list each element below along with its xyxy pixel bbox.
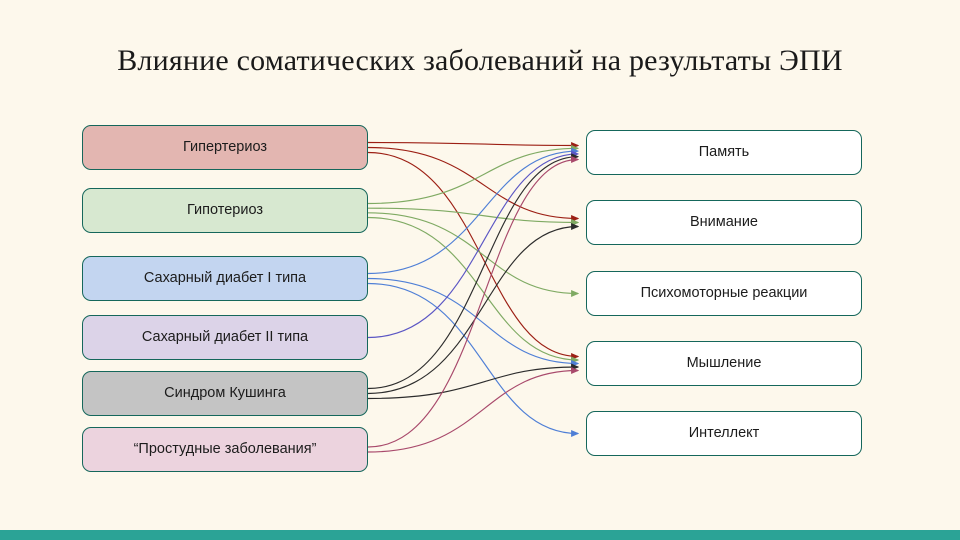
source-node-label: Гипертериоз <box>183 139 267 156</box>
source-node-label: Гипотериоз <box>187 202 263 219</box>
connector-cold-to-memory <box>368 160 578 448</box>
target-node-label: Интеллект <box>689 425 760 442</box>
connector-dm1-to-thinking <box>368 279 578 364</box>
source-node-dm2[interactable]: Сахарный диабет II типа <box>82 315 368 360</box>
target-node-label: Мышление <box>687 355 762 372</box>
connector-cushing-to-thinking <box>368 367 578 399</box>
source-node-cold[interactable]: “Простудные заболевания” <box>82 427 368 472</box>
source-node-label: Синдром Кушинга <box>164 385 286 402</box>
connector-hypo-to-attention <box>368 208 578 222</box>
connector-hyper-to-thinking <box>368 153 578 357</box>
connector-dm2-to-memory <box>368 154 578 338</box>
connector-cold-to-thinking <box>368 371 578 453</box>
target-node-intellect[interactable]: Интеллект <box>586 411 862 456</box>
page-title: Влияние соматических заболеваний на резу… <box>0 44 960 78</box>
source-node-cushing[interactable]: Синдром Кушинга <box>82 371 368 416</box>
target-node-attention[interactable]: Внимание <box>586 200 862 245</box>
source-node-hyper[interactable]: Гипертериоз <box>82 125 368 170</box>
source-node-label: Сахарный диабет I типа <box>144 270 306 287</box>
accent-bar <box>0 530 960 540</box>
connector-hyper-to-attention <box>368 148 578 219</box>
source-node-dm1[interactable]: Сахарный диабет I типа <box>82 256 368 301</box>
source-node-hypo[interactable]: Гипотериоз <box>82 188 368 233</box>
connector-hypo-to-memory <box>368 148 578 203</box>
connector-hypo-to-psycho <box>368 213 578 294</box>
target-node-thinking[interactable]: Мышление <box>586 341 862 386</box>
target-node-label: Память <box>699 144 750 161</box>
source-node-label: “Простудные заболевания” <box>134 441 317 458</box>
connector-dm1-to-memory <box>368 151 578 273</box>
target-node-memory[interactable]: Память <box>586 130 862 175</box>
connector-hypo-to-thinking <box>368 218 578 361</box>
target-node-label: Психомоторные реакции <box>641 285 808 302</box>
target-node-psycho[interactable]: Психомоторные реакции <box>586 271 862 316</box>
target-node-label: Внимание <box>690 214 758 231</box>
source-node-label: Сахарный диабет II типа <box>142 329 308 346</box>
connector-cushing-to-memory <box>368 157 578 389</box>
connector-hyper-to-memory <box>368 143 578 146</box>
connector-dm1-to-intellect <box>368 284 578 434</box>
connector-cushing-to-attention <box>368 227 578 394</box>
slide-canvas: Влияние соматических заболеваний на резу… <box>0 0 960 540</box>
